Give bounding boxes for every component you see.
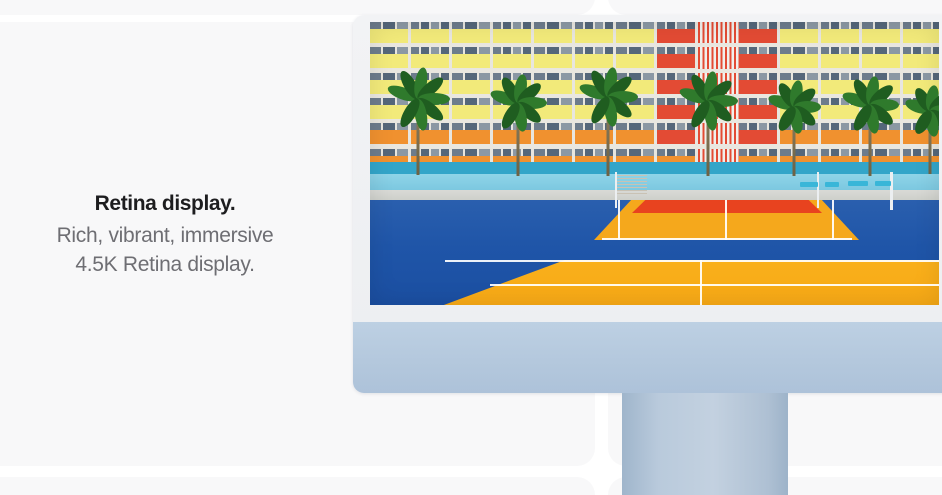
court-line: [618, 200, 620, 240]
card-below-left: [0, 477, 595, 495]
building-panel: [452, 54, 490, 68]
building-bay: [739, 123, 777, 144]
court-line: [490, 284, 939, 286]
building-bay: [780, 47, 818, 68]
court-net-post: [890, 172, 893, 210]
building-panel: [616, 54, 654, 68]
building-panel: [739, 105, 777, 119]
wallpaper-palm-tree: [850, 86, 890, 176]
building-panel: [452, 80, 490, 94]
building-bay: [821, 47, 859, 68]
building-panel: [370, 54, 408, 68]
courtside-seat: [875, 181, 891, 186]
building-panel: [575, 54, 613, 68]
building-bay: [370, 22, 408, 43]
feature-copy: Retina display. Rich, vibrant, immersive…: [0, 190, 330, 279]
building-panel: [452, 130, 490, 144]
building-bay: [903, 47, 939, 68]
building-bay: [821, 22, 859, 43]
building-panel: [739, 130, 777, 144]
building-bay: [452, 98, 490, 119]
building-bay: [657, 47, 695, 68]
building-bay: [575, 22, 613, 43]
imac-stand: [622, 393, 788, 495]
building-panel: [903, 29, 939, 43]
building-panel: [657, 29, 695, 43]
building-panel: [862, 29, 900, 43]
court-line: [832, 200, 834, 240]
wallpaper-palm-tree: [398, 80, 438, 175]
building-bay: [739, 47, 777, 68]
building-panel: [370, 29, 408, 43]
building-bay: [739, 73, 777, 94]
building-panel: [780, 54, 818, 68]
building-panel: [534, 54, 572, 68]
building-panel: [534, 29, 572, 43]
courtside-seat: [800, 182, 818, 187]
courtside-seat: [848, 181, 868, 186]
building-panel: [739, 54, 777, 68]
building-panel: [575, 29, 613, 43]
courtside-seat: [825, 182, 839, 187]
building-panel: [452, 105, 490, 119]
building-bay: [452, 22, 490, 43]
imac-screen: [370, 22, 939, 305]
building-bay: [616, 47, 654, 68]
building-bay: [452, 73, 490, 94]
building-bay: [411, 22, 449, 43]
feature-description: Rich, vibrant, immersive 4.5K Retina dis…: [0, 222, 330, 279]
building-panel: [493, 54, 531, 68]
building-panel: [616, 29, 654, 43]
building-bay: [493, 22, 531, 43]
building-panel: [452, 29, 490, 43]
building-bay: [903, 22, 939, 43]
building-bay: [657, 22, 695, 43]
building-panel: [534, 130, 572, 144]
page-title: Retina display.: [0, 190, 330, 218]
building-red-lattice: [698, 22, 739, 47]
building-panel: [780, 29, 818, 43]
building-bay: [862, 47, 900, 68]
building-bay: [575, 47, 613, 68]
court-line: [445, 260, 939, 262]
wallpaper-palm-tree: [774, 88, 814, 176]
court-net-post: [817, 172, 819, 208]
building-bay: [616, 22, 654, 43]
building-bay: [534, 123, 572, 144]
building-floor: [370, 47, 939, 72]
building-floor: [370, 22, 939, 47]
building-bay: [780, 22, 818, 43]
court-line: [700, 260, 702, 305]
wallpaper-palm-tree: [688, 82, 728, 176]
court-net: [617, 174, 647, 194]
building-panel: [411, 29, 449, 43]
building-panel: [739, 80, 777, 94]
building-panel: [739, 29, 777, 43]
building-bay: [370, 47, 408, 68]
building-panel: [411, 54, 449, 68]
wallpaper-far-court-red-zone: [632, 200, 822, 213]
wallpaper-palm-tree: [498, 84, 538, 176]
building-panel: [493, 29, 531, 43]
building-bay: [452, 123, 490, 144]
description-line-2: 4.5K Retina display.: [0, 251, 330, 279]
building-bay: [862, 22, 900, 43]
card-above-left: [0, 0, 595, 15]
card-above-right: [608, 0, 942, 15]
building-panel: [821, 29, 859, 43]
building-panel: [657, 54, 695, 68]
building-panel: [862, 54, 900, 68]
building-bay: [534, 47, 572, 68]
building-bay: [411, 47, 449, 68]
court-line: [725, 200, 727, 240]
imac-chin: [353, 322, 942, 393]
building-panel: [903, 54, 939, 68]
building-red-lattice: [698, 47, 739, 72]
building-panel: [821, 54, 859, 68]
building-bay: [452, 47, 490, 68]
description-line-1: Rich, vibrant, immersive: [0, 222, 330, 250]
court-line: [602, 238, 852, 240]
building-bay: [493, 47, 531, 68]
building-bay: [534, 22, 572, 43]
wallpaper-palm-tree: [588, 78, 628, 176]
building-bay: [739, 22, 777, 43]
wallpaper-palm-tree: [910, 92, 939, 174]
